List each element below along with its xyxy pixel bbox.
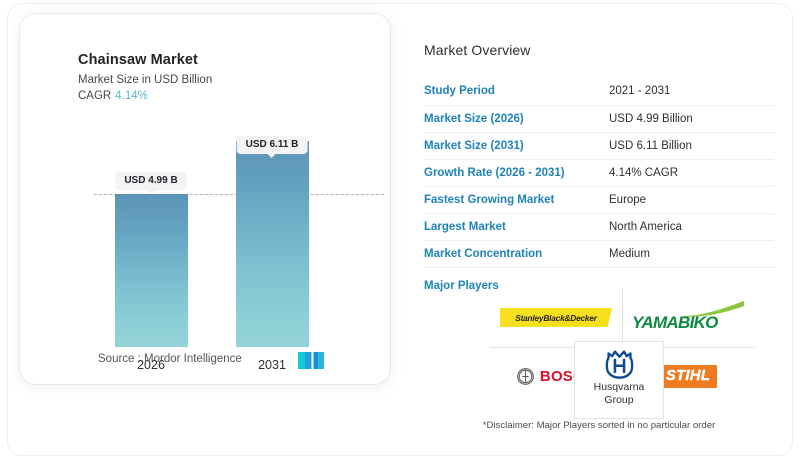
bar-value-label-2026: USD 4.99 B: [115, 172, 186, 190]
husqvarna-wordmark-line2: Group: [604, 394, 633, 407]
overview-table: Study Period 2021 - 2031 Market Size (20…: [424, 78, 774, 268]
table-row: Largest Market North America: [424, 213, 774, 240]
logo-husqvarna-group: Husqvarna Group: [574, 341, 664, 419]
table-row: Fastest Growing Market Europe: [424, 186, 774, 213]
stanley-black-decker-logo: StanleyBlack&Decker: [500, 308, 612, 327]
row-key: Market Size (2031): [424, 132, 609, 159]
cagr-label: CAGR: [78, 90, 111, 102]
bosch-mark-icon: [517, 368, 534, 385]
table-row: Growth Rate (2026 - 2031) 4.14% CAGR: [424, 159, 774, 186]
mordor-intelligence-logo: [298, 352, 324, 374]
husqvarna-wordmark-line1: Husqvarna: [594, 381, 645, 394]
logo-yamabiko: YAMABIKO: [622, 288, 754, 347]
bar-chart-plot: USD 4.99 B USD 6.11 B 2026 2031: [40, 124, 410, 374]
table-row: Market Size (2031) USD 6.11 Billion: [424, 132, 774, 159]
chart-cagr-line: CAGR4.14%: [78, 90, 148, 102]
overview-title: Market Overview: [424, 42, 774, 58]
stanley-black-decker-wordmark: StanleyBlack&Decker: [515, 313, 597, 323]
row-value: USD 4.99 Billion: [609, 105, 774, 132]
stihl-logo: STIHL: [659, 365, 717, 388]
row-value: 4.14% CAGR: [609, 159, 774, 186]
row-value: Europe: [609, 186, 774, 213]
cagr-value: 4.14%: [115, 90, 148, 102]
disclaimer-text: *Disclaimer: Major Players sorted in no …: [424, 420, 774, 431]
bar-2031-fill: [236, 141, 309, 347]
table-row: Study Period 2021 - 2031: [424, 78, 774, 105]
bar-2026[interactable]: [115, 194, 188, 347]
row-value: 2021 - 2031: [609, 78, 774, 105]
bar-2026-fill: [115, 194, 188, 347]
row-value: North America: [609, 213, 774, 240]
market-summary-infographic: Chainsaw Market Market Size in USD Billi…: [0, 0, 800, 459]
yamabiko-wordmark: YAMABIKO: [632, 313, 718, 333]
row-key: Study Period: [424, 78, 609, 105]
row-key: Growth Rate (2026 - 2031): [424, 159, 609, 186]
chart-subtitle: Market Size in USD Billion: [78, 74, 212, 86]
row-value: Medium: [609, 240, 774, 267]
table-row: Market Size (2026) USD 4.99 Billion: [424, 105, 774, 132]
bar-2031[interactable]: [236, 141, 309, 347]
row-key: Market Size (2026): [424, 105, 609, 132]
row-key: Largest Market: [424, 213, 609, 240]
yamabiko-logo: YAMABIKO: [632, 301, 744, 335]
market-overview-panel: Market Overview Study Period 2021 - 2031…: [424, 42, 774, 292]
husqvarna-crown-icon: [604, 348, 635, 379]
logo-stanley-black-decker: StanleyBlack&Decker: [490, 288, 622, 347]
source-row: Source : Mordor Intelligence: [20, 350, 390, 372]
bar-value-label-2031: USD 6.11 B: [237, 136, 308, 154]
row-value: USD 6.11 Billion: [609, 132, 774, 159]
row-key: Market Concentration: [424, 240, 609, 267]
chart-card: Chainsaw Market Market Size in USD Billi…: [20, 14, 390, 384]
chart-title: Chainsaw Market: [78, 52, 198, 68]
row-key: Fastest Growing Market: [424, 186, 609, 213]
table-row: Market Concentration Medium: [424, 240, 774, 267]
source-text: Source : Mordor Intelligence: [98, 353, 242, 365]
stihl-wordmark: STIHL: [666, 367, 710, 384]
